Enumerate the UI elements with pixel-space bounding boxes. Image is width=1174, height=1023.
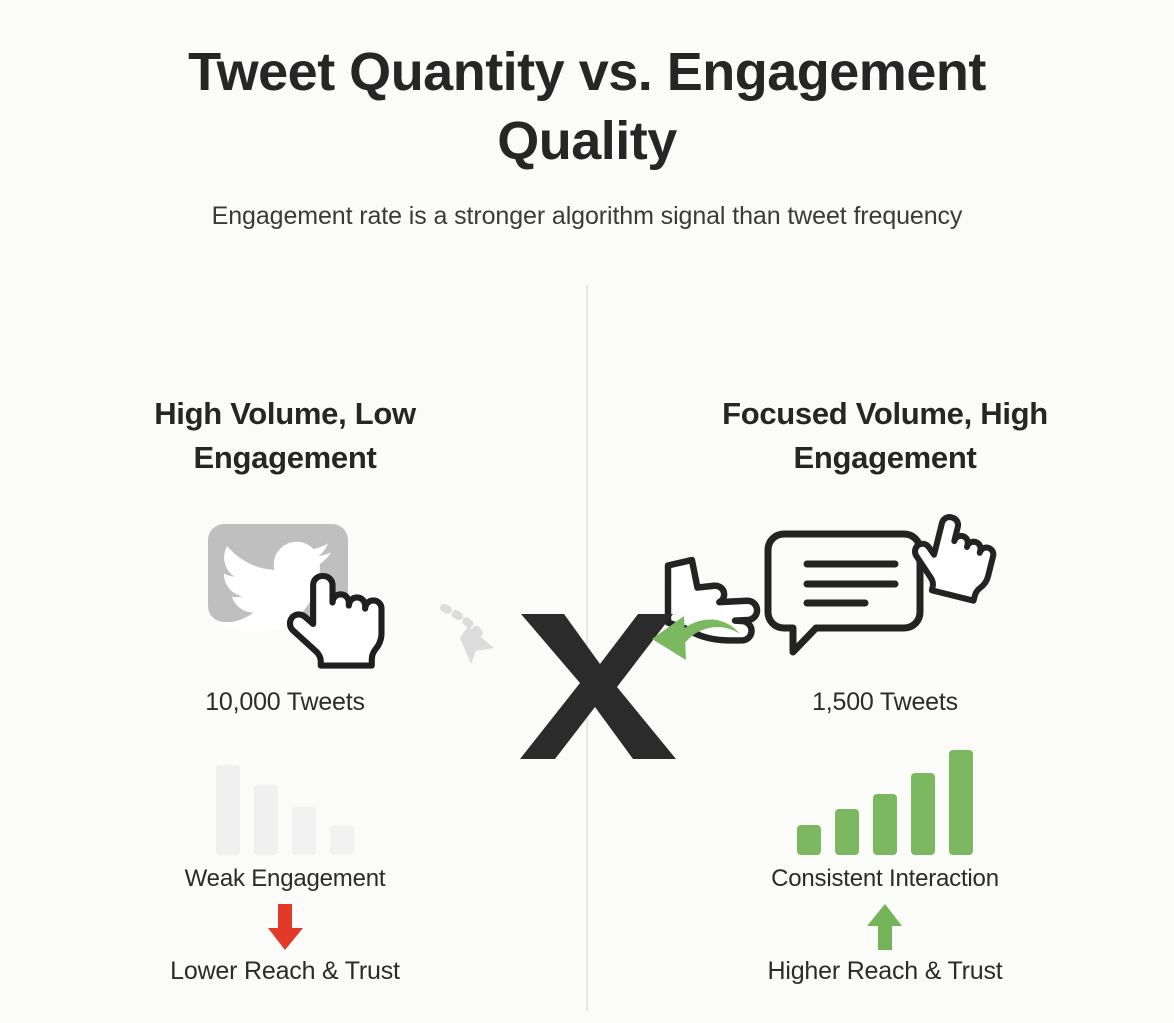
left-mid-label: Weak Engagement (50, 865, 520, 893)
bar (292, 807, 316, 855)
bar (254, 785, 278, 855)
bar (949, 750, 973, 855)
bar (797, 825, 821, 855)
page-title: Tweet Quantity vs. Engagement Quality (122, 38, 1052, 176)
right-trend-arrow (650, 899, 1120, 955)
bar (835, 809, 859, 855)
header: Tweet Quantity vs. Engagement Quality En… (0, 38, 1174, 231)
left-trend-arrow (50, 899, 520, 955)
bar (216, 765, 240, 855)
arrow-up-icon (861, 902, 909, 952)
center-cluster (432, 588, 762, 763)
bar (911, 773, 935, 855)
right-mid-label: Consistent Interaction (650, 865, 1120, 893)
bar (873, 794, 897, 855)
bar (330, 825, 354, 855)
right-bottom-label: Higher Reach & Trust (650, 957, 1120, 986)
left-column-title: High Volume, Low Engagement (85, 392, 485, 480)
page-subtitle: Engagement rate is a stronger algorithm … (0, 202, 1174, 231)
dashed-arrow-right-icon (438, 602, 518, 672)
right-column-title: Focused Volume, High Engagement (685, 392, 1085, 480)
arrow-down-icon (261, 902, 309, 952)
curved-arrow-left-icon (650, 608, 744, 668)
left-bottom-label: Lower Reach & Trust (50, 957, 520, 986)
infographic-root: Tweet Quantity vs. Engagement Quality En… (0, 0, 1174, 1023)
